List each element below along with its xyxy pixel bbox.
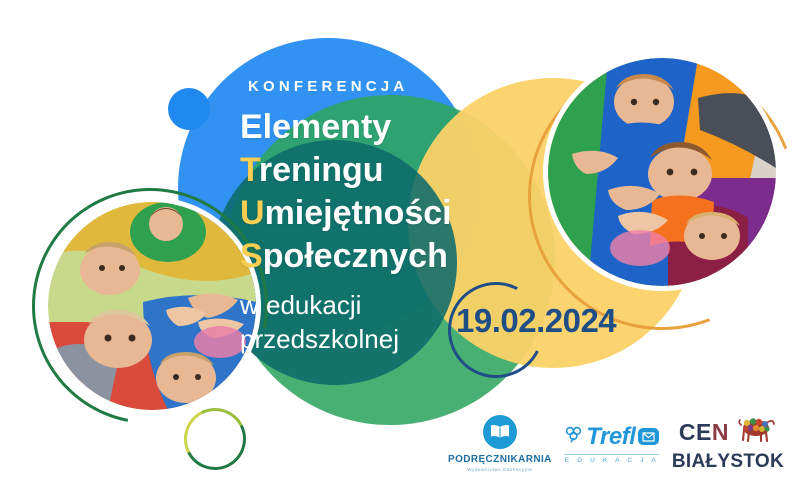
photo-children-right (548, 58, 776, 286)
logo-cen-bialystok[interactable]: CEN (672, 416, 784, 471)
logo-cen-row: CEN (679, 416, 777, 449)
logo-podrecznikarnia[interactable]: PODRĘCZNIKARNIA Wydawnictwo Edukacyjne (448, 415, 552, 472)
title-rest-4: połecznych (263, 237, 448, 275)
poster-title: Elementy Treningu Umiejętności Społeczny… (240, 106, 540, 278)
kicker-label: KONFERENCJA (248, 78, 408, 95)
title-line-3: Umiejętności (240, 192, 540, 235)
title-rest-2: reningu (259, 151, 384, 189)
logo-trefl-row: Trefl (564, 423, 659, 451)
sponsor-logo-bar: PODRĘCZNIKARNIA Wydawnictwo Edukacyjne T… (448, 408, 784, 478)
photo-children-left (48, 202, 256, 410)
title-highlight-3: U (240, 194, 265, 232)
title-line-4: Społecznych (240, 235, 540, 278)
logo-trefl-tagline: E D U K A C J A (564, 454, 659, 464)
title-highlight-2: T (240, 151, 259, 189)
logo-trefl-name: Trefl (586, 423, 635, 451)
logo-podrecznikarnia-tagline: Wydawnictwo Edukacyjne (467, 467, 532, 472)
logo-podrecznikarnia-name: PODRĘCZNIKARNIA (448, 454, 552, 465)
title-highlight-4: S (240, 237, 263, 275)
logo-trefl[interactable]: Trefl E D U K A C J A (564, 423, 659, 464)
title-line-2: Treningu (240, 149, 540, 192)
event-date: 19.02.2024 (456, 302, 616, 340)
title-line-1: Elementy (240, 106, 540, 149)
logo-cen-city: BIAŁYSTOK (672, 452, 784, 471)
clover-icon (564, 426, 583, 448)
title-rest-3: miejętności (265, 194, 452, 232)
conference-poster: KONFERENCJA Elementy Treningu Umiejętnoś… (0, 0, 800, 500)
bison-icon (737, 416, 777, 449)
logo-cen-name: CEN (679, 421, 729, 444)
blue-dot-accent (168, 88, 210, 130)
trefl-badge-icon (638, 428, 659, 445)
title-rest-1: Elementy (240, 108, 391, 146)
open-book-icon (483, 415, 517, 449)
